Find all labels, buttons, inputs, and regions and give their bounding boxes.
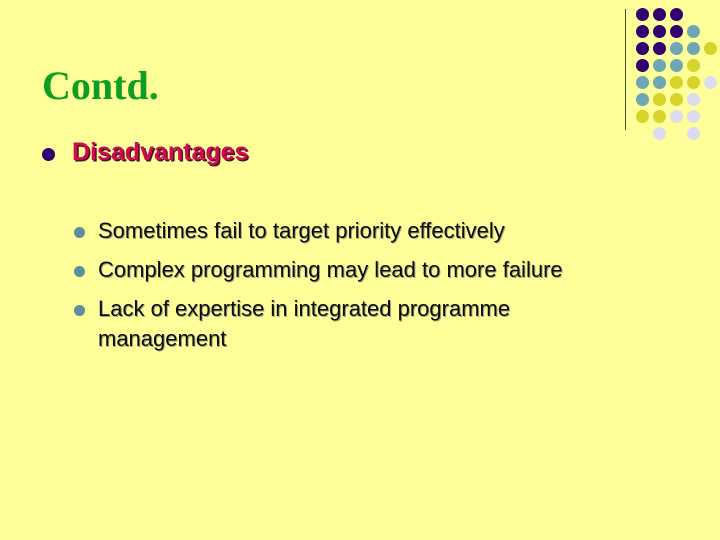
bullet-icon <box>74 227 85 238</box>
decorative-dot <box>687 110 700 123</box>
list-item: Sometimes fail to target priority effect… <box>0 216 640 246</box>
slide-canvas: Contd. Disadvantages Sometimes fail to t… <box>0 0 720 540</box>
decorative-dot <box>653 76 666 89</box>
bullet-icon <box>74 266 85 277</box>
decorative-dot <box>687 127 700 140</box>
decorative-dot <box>687 76 700 89</box>
list-item-label: Sometimes fail to target priority effect… <box>98 218 505 243</box>
decorative-dot <box>636 93 649 106</box>
list-item-label: Complex programming may lead to more fai… <box>98 257 563 282</box>
level1-heading-text: Disadvantages <box>72 138 248 166</box>
decorative-dot <box>670 76 683 89</box>
decorative-dot <box>636 76 649 89</box>
decorative-dot <box>636 25 649 38</box>
decorative-dot <box>636 42 649 55</box>
decorative-dot <box>670 110 683 123</box>
decorative-dot <box>653 8 666 21</box>
decorative-dot <box>704 76 717 89</box>
corner-decoration <box>618 0 720 140</box>
decorative-dot <box>636 59 649 72</box>
decorative-dot <box>687 59 700 72</box>
decorative-dot <box>653 127 666 140</box>
decorative-dot <box>687 25 700 38</box>
decorative-dot <box>653 59 666 72</box>
bullet-icon <box>42 148 55 161</box>
decorative-dot <box>687 93 700 106</box>
decorative-dot <box>670 93 683 106</box>
decorative-dot <box>670 42 683 55</box>
slide-body: Disadvantages Sometimes fail to target p… <box>0 136 640 363</box>
decorative-dot <box>653 25 666 38</box>
list-item-level1: Disadvantages <box>0 136 640 172</box>
decorative-dot <box>670 8 683 21</box>
halftone-dot-grid-icon <box>636 8 720 134</box>
decorative-dot <box>704 42 717 55</box>
list-item: Complex programming may lead to more fai… <box>0 255 640 285</box>
sub-bullet-list: Sometimes fail to target priority effect… <box>0 216 640 354</box>
decorative-dot <box>636 110 649 123</box>
decorative-dot <box>653 110 666 123</box>
decorative-dot <box>687 42 700 55</box>
decorative-dot <box>653 42 666 55</box>
decorative-dot <box>670 25 683 38</box>
decorative-dot <box>670 59 683 72</box>
list-item-label: Lack of expertise in integrated programm… <box>98 296 510 351</box>
vertical-rule-divider <box>625 9 626 130</box>
list-item: Lack of expertise in integrated programm… <box>0 294 640 354</box>
bullet-icon <box>74 305 85 316</box>
decorative-dot <box>653 93 666 106</box>
page-title: Contd. <box>42 64 159 108</box>
decorative-dot <box>636 8 649 21</box>
